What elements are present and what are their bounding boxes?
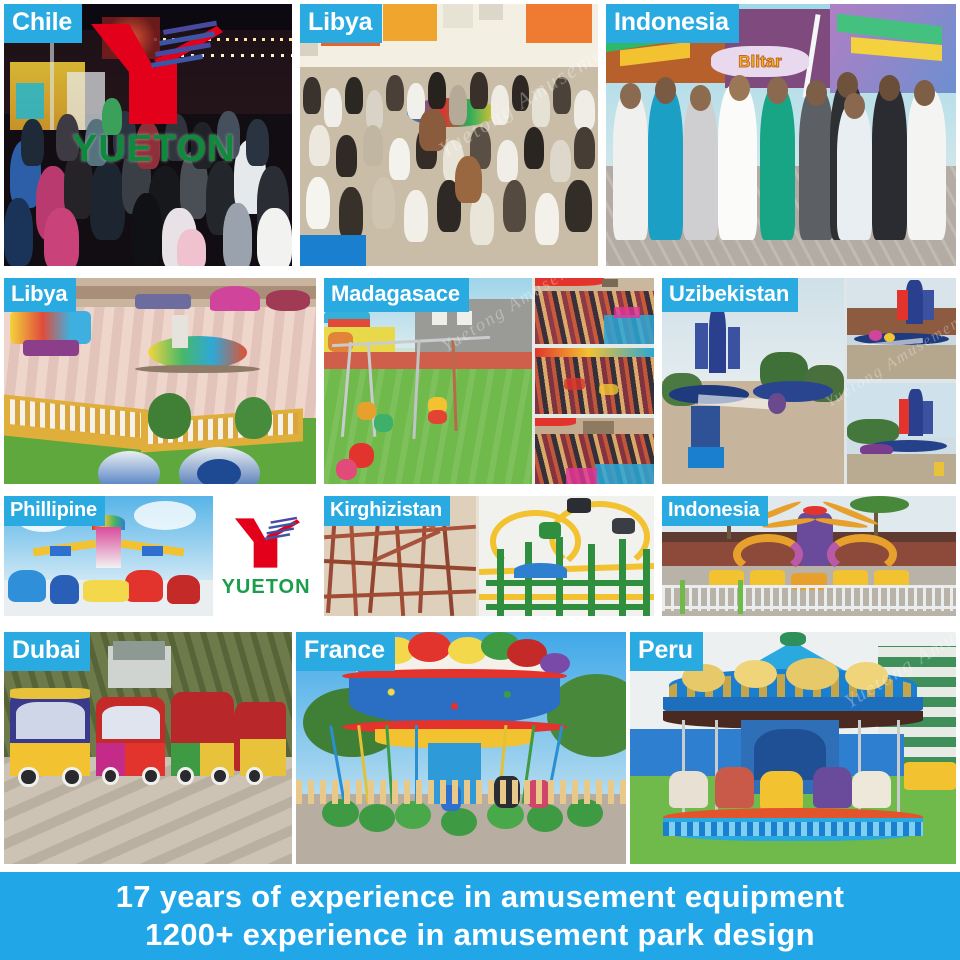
case-panel-uzibekistan[interactable]: Uzibekistan Yuetong Amusement [662,278,956,484]
country-label-madagasace: Madagasace [324,278,469,312]
case-panel-dubai[interactable]: Dubai [4,632,292,864]
yueton-logo-block: YUETON [216,496,316,616]
case-panel-madagasace[interactable]: Madagasace Yuetong Amusement [324,278,654,484]
photo-indonesia-group: Blitar [606,4,956,266]
case-panel-phillipine[interactable]: Phillipine YUETON [4,496,316,616]
cases-collage: Chile YUETON [0,0,960,960]
country-label-france: France [296,632,395,671]
photo-uzibekistan-sub-1 [847,278,956,379]
case-panel-indonesia-group[interactable]: Blitar [606,4,956,266]
country-label-uzibekistan: Uzibekistan [662,278,798,312]
country-label-indonesia-group: Indonesia [606,4,739,43]
yueton-wordmark: YUETON [222,576,311,599]
country-label-indonesia-octopus: Indonesia [662,496,768,526]
photo-libya-crowd [300,4,598,266]
case-panel-peru[interactable]: Peru Yuetong Amusement [630,632,956,864]
country-label-dubai: Dubai [4,632,90,671]
photo-madagasace-crowd-3 [535,418,654,484]
country-label-libya-park: Libya [4,278,76,312]
photo-uzibekistan-sub-2 [847,383,956,484]
photo-madagasace-crowd-1 [535,278,654,344]
country-label-phillipine: Phillipine [4,496,105,526]
case-panel-libya-park[interactable]: Libya [4,278,316,484]
case-panel-france[interactable]: France [296,632,626,864]
case-panel-kirghizistan[interactable]: Kirghizistan [324,496,654,616]
photo-chile-night-crowd [4,4,292,266]
case-panel-indonesia-octopus[interactable]: Indonesia [662,496,956,616]
banner-line-1: 17 years of experience in amusement equi… [116,878,845,916]
case-panel-chile[interactable]: Chile YUETON [4,4,292,266]
case-panel-libya-crowd[interactable]: Libya Yuetong Amusement [300,4,598,266]
bottom-banner: 17 years of experience in amusement equi… [0,872,960,960]
photo-kirghizistan-coaster [479,496,654,616]
country-label-libya-crowd: Libya [300,4,382,43]
yueton-y-mark-icon [232,514,300,574]
photo-madagasace-crowd-2 [535,348,654,414]
crowd-figures [4,4,292,266]
country-label-chile: Chile [4,4,82,43]
country-label-peru: Peru [630,632,703,671]
country-label-kirghizistan: Kirghizistan [324,496,450,526]
banner-line-2: 1200+ experience in amusement park desig… [145,916,815,954]
